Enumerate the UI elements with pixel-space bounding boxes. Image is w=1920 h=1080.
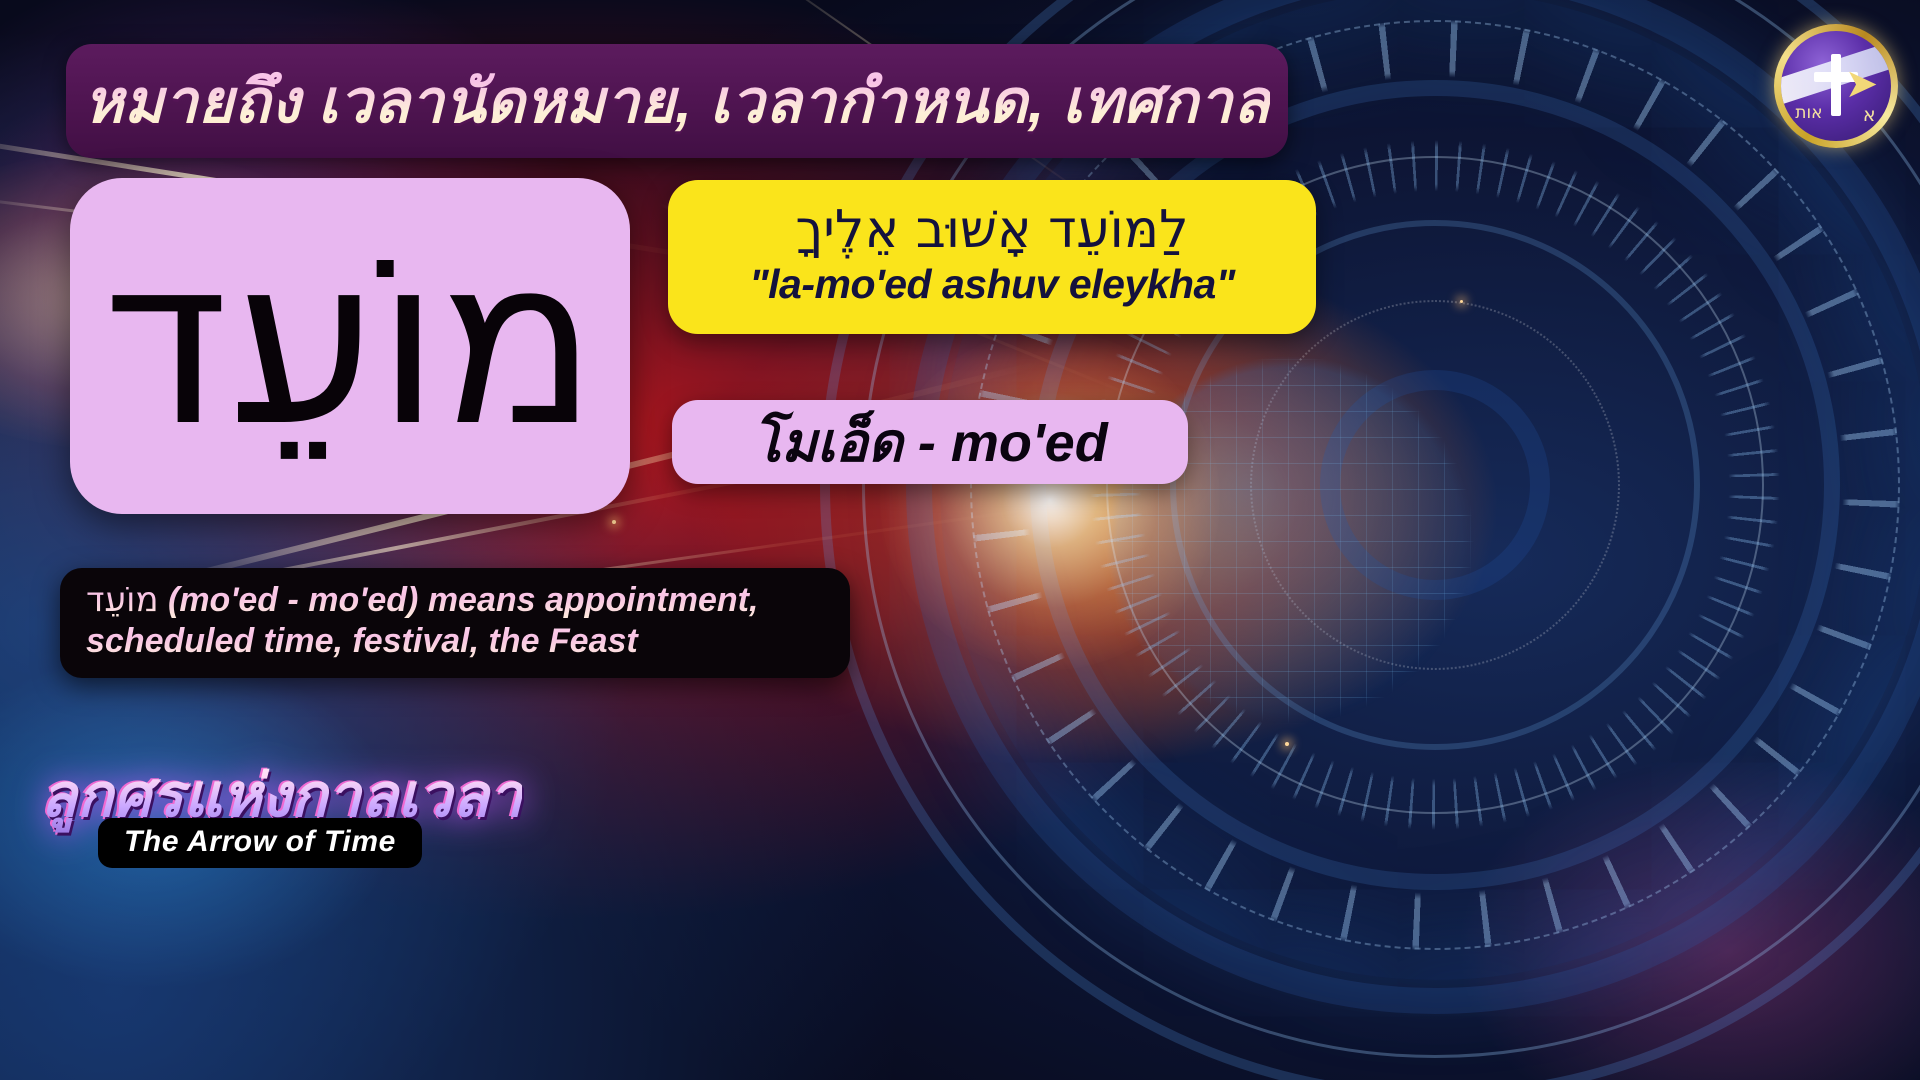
- hebrew-word-text: מוֹעֵד: [103, 236, 598, 449]
- verse-card: לַמּוֹעֵד אָשׁוּב אֵלֶיךָ "la-mo'ed ashu…: [668, 180, 1316, 334]
- pronunciation-pill: โมเอ็ด - mo'ed: [672, 400, 1188, 484]
- description-hebrew-inline: מוֹעֵד: [86, 580, 159, 620]
- description-line-1: מוֹעֵד (mo'ed - mo'ed) means appointment…: [86, 580, 824, 621]
- description-line-1-rest: (mo'ed - mo'ed) means appointment,: [159, 581, 759, 619]
- spark: [1285, 742, 1289, 746]
- emblem-inner-disc: ➤ אות א: [1781, 31, 1891, 141]
- description-line-2: scheduled time, festival, the Feast: [86, 621, 824, 662]
- spark: [1460, 300, 1463, 303]
- banner-thai-title: หมายถึง เวลานัดหมาย, เวลากำหนด, เทศกาล: [84, 54, 1270, 149]
- brand-english-title: The Arrow of Time: [124, 825, 396, 859]
- hebrew-word-card: מוֹעֵד: [70, 178, 630, 514]
- emblem-hebrew-mark: אות: [1795, 103, 1822, 123]
- spark: [612, 520, 616, 524]
- description-card: מוֹעֵד (mo'ed - mo'ed) means appointment…: [60, 568, 850, 678]
- brand-lockup: ลูกศรแห่งกาลเวลา The Arrow of Time: [26, 748, 646, 868]
- emblem-alef-mark: א: [1863, 104, 1876, 126]
- cross-vertical: [1831, 54, 1841, 116]
- verse-transliteration-text: "la-mo'ed ashuv eleykha": [749, 261, 1235, 308]
- top-banner: หมายถึง เวลานัดหมาย, เวลากำหนด, เทศกาล: [66, 44, 1288, 158]
- slide-canvas: หมายถึง เวลานัดหมาย, เวลากำหนด, เทศกาล מ…: [0, 0, 1920, 1080]
- verse-hebrew-text: לַמּוֹעֵד אָשׁוּב אֵלֶיךָ: [795, 202, 1188, 258]
- channel-emblem-badge: ➤ אות א: [1774, 24, 1898, 148]
- background-core-flare: [880, 330, 1220, 670]
- pronunciation-text: โมเอ็ด - mo'ed: [752, 399, 1107, 485]
- brand-english-pill: The Arrow of Time: [98, 818, 422, 868]
